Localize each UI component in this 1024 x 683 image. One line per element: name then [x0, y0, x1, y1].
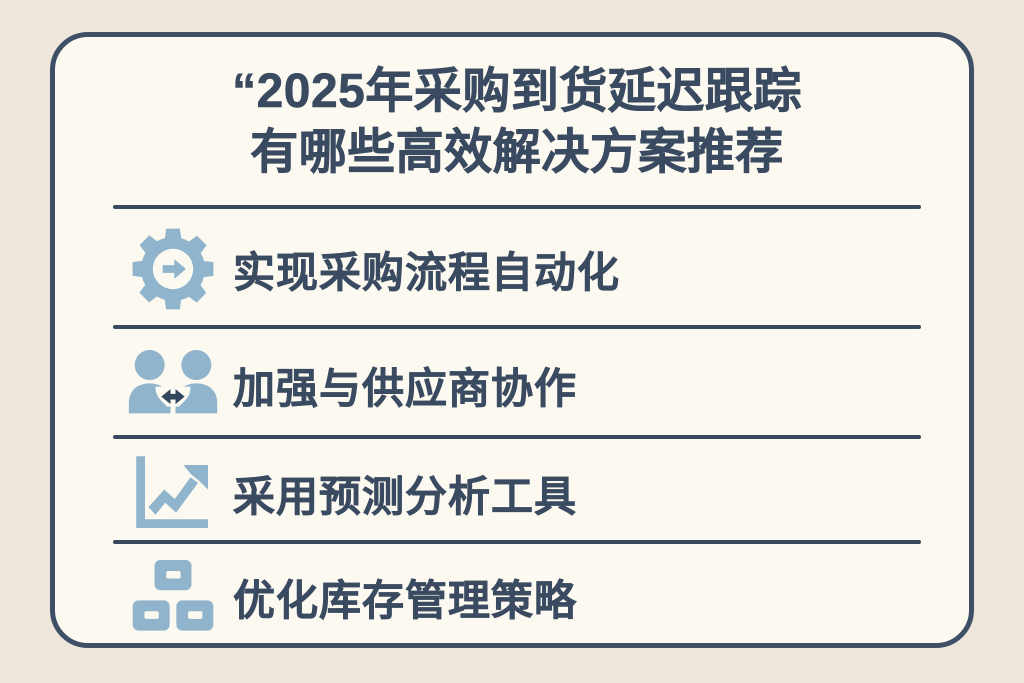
list-item-inventory-strategy[interactable]: 优化库存管理策略	[113, 549, 921, 645]
list-item-label: 采用预测分析工具	[233, 463, 577, 524]
page-title: “2025年采购到货延迟跟踪 有哪些高效解决方案推荐	[55, 61, 979, 184]
trend-chart-icon	[113, 445, 233, 541]
title-line-2: 有哪些高效解决方案推荐	[55, 122, 979, 183]
divider-2	[113, 325, 921, 329]
gear-arrow-icon	[113, 221, 233, 317]
list-item-automation[interactable]: 实现采购流程自动化	[113, 221, 921, 317]
list-item-supplier-collaboration[interactable]: 加强与供应商协作	[113, 337, 921, 433]
divider-3	[113, 435, 921, 439]
title-line-1: “2025年采购到货延迟跟踪	[55, 61, 979, 122]
list-item-label: 优化库存管理策略	[233, 567, 577, 628]
list-item-predictive-analytics[interactable]: 采用预测分析工具	[113, 445, 921, 541]
divider-1	[113, 205, 921, 209]
list-item-label: 实现采购流程自动化	[233, 239, 620, 300]
list-item-label: 加强与供应商协作	[233, 355, 577, 416]
inventory-boxes-icon	[113, 549, 233, 645]
people-exchange-icon	[113, 337, 233, 433]
info-card: “2025年采购到货延迟跟踪 有哪些高效解决方案推荐 实现采购流程自动化	[50, 32, 974, 648]
infographic-canvas: “2025年采购到货延迟跟踪 有哪些高效解决方案推荐 实现采购流程自动化	[0, 0, 1024, 683]
